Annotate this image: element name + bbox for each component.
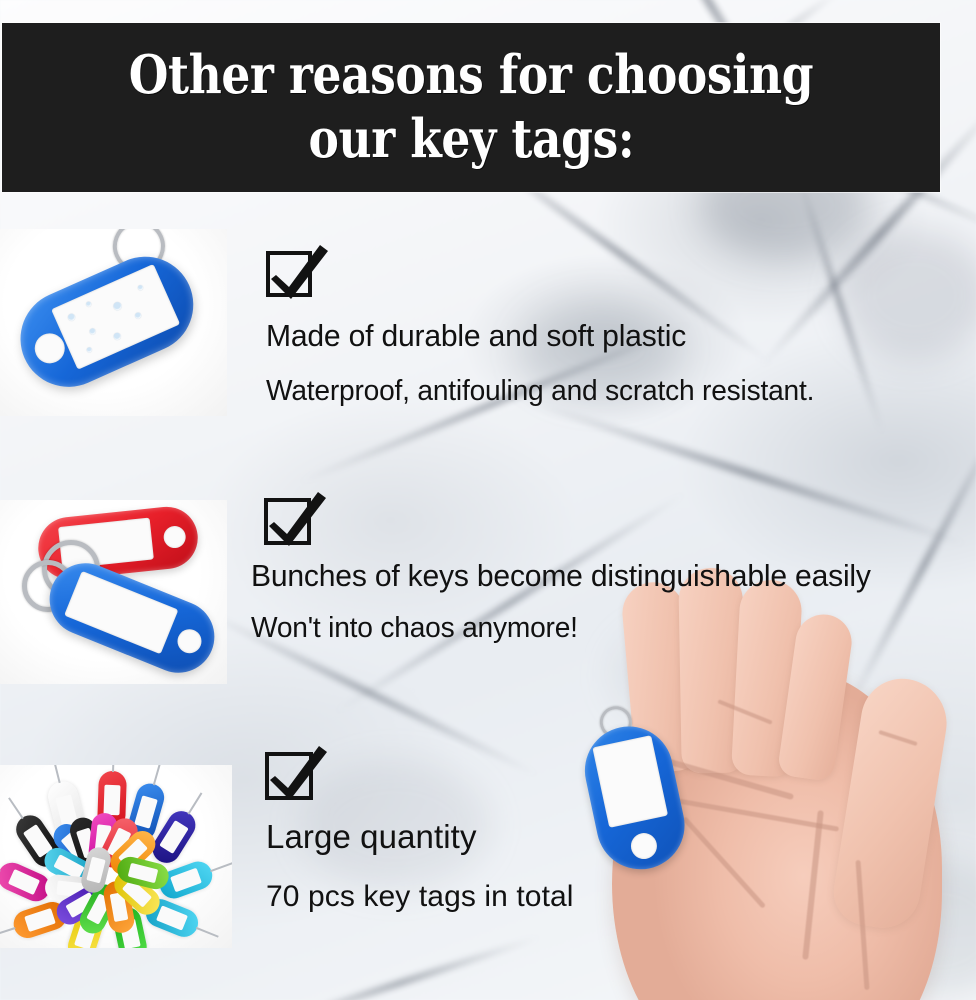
product-feature-infographic: Other reasons for choosing our key tags: (0, 0, 976, 1000)
feature-title: Made of durable and soft plastic (266, 318, 814, 354)
headline-banner: Other reasons for choosing our key tags: (2, 23, 940, 192)
checkbox-checked-icon (264, 498, 311, 545)
feature-title: Bunches of keys become distinguishable e… (251, 558, 871, 594)
headline-line-1: Other reasons for choosing (129, 44, 813, 108)
feature-photo-red-blue-tags (0, 500, 227, 684)
checkbox-checked-icon (265, 752, 313, 800)
feature-text-distinguishable-keys: Bunches of keys become distinguishable e… (251, 558, 890, 645)
checkbox-checked-icon (266, 251, 312, 297)
headline-line-2: our key tags: (308, 108, 634, 172)
feature-text-large-quantity: Large quantity 70 pcs key tags in total (266, 818, 574, 914)
feature-title: Large quantity (266, 818, 574, 856)
feature-text-durable-plastic: Made of durable and soft plastic Waterpr… (266, 318, 831, 408)
feature-subtitle: 70 pcs key tags in total (266, 880, 574, 914)
feature-photo-colorful-tag-collage (0, 765, 232, 948)
feature-subtitle: Waterproof, antifouling and scratch resi… (266, 375, 814, 408)
feature-photo-durable-plastic (0, 229, 227, 416)
feature-subtitle: Won't into chaos anymore! (251, 612, 871, 645)
